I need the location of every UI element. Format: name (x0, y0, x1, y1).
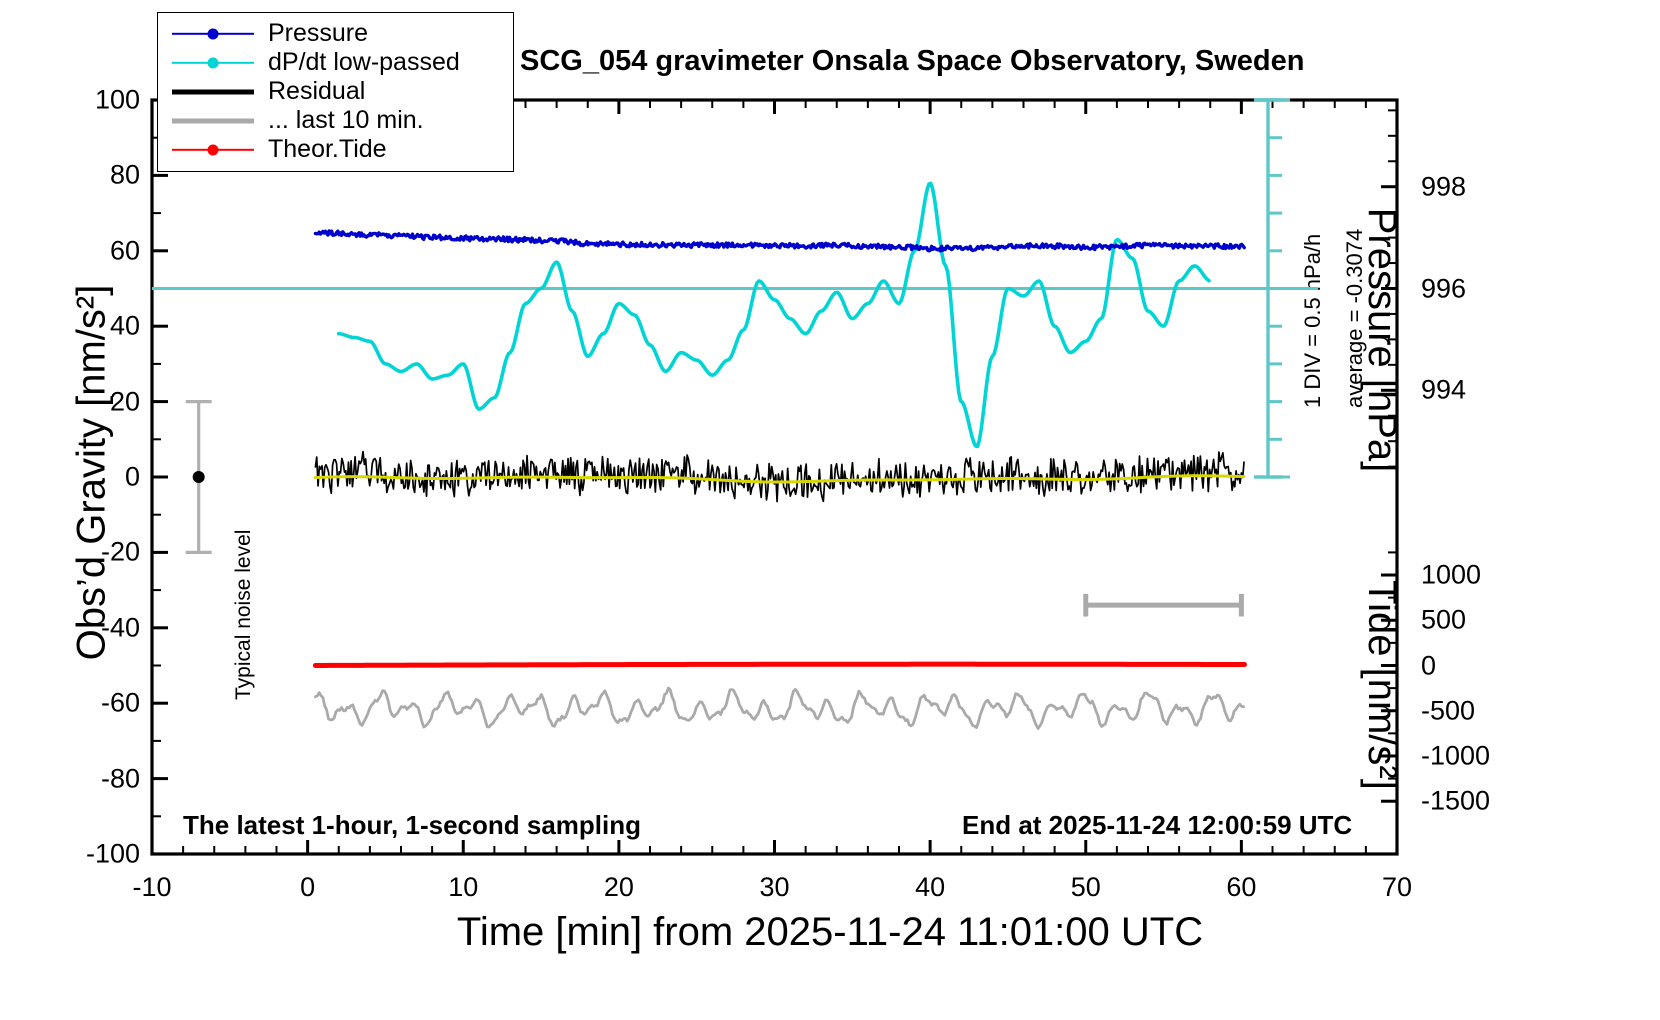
last-10-min-series (315, 688, 1243, 728)
legend-swatch-tide (172, 140, 254, 160)
legend-item[interactable]: ... last 10 min. (158, 106, 513, 135)
legend-swatch-pressure (172, 24, 254, 44)
legend-swatch-dpdt (172, 53, 254, 73)
tide-series (315, 664, 1244, 665)
legend-item[interactable]: Pressure (158, 19, 513, 48)
legend-label-tide: Theor.Tide (254, 135, 387, 164)
noise-center-dot (193, 471, 205, 483)
legend: Pressure dP/dt low-passed Residual ... l… (157, 12, 514, 172)
legend-swatch-residual (172, 82, 254, 102)
residual-series (315, 452, 1244, 502)
legend-label-last10: ... last 10 min. (254, 106, 424, 135)
legend-label-residual: Residual (254, 77, 365, 106)
dpdt-series (339, 183, 1209, 446)
legend-swatch-last10 (172, 111, 254, 131)
gravimeter-plot: Obs’d Gravity [nm/s²] Pressure [hPa] Tid… (0, 0, 1660, 1020)
pressure-series (315, 231, 1244, 251)
legend-item[interactable]: Theor.Tide (158, 135, 513, 164)
legend-item[interactable]: Residual (158, 77, 513, 106)
legend-label-pressure: Pressure (254, 19, 368, 48)
legend-item[interactable]: dP/dt low-passed (158, 48, 513, 77)
legend-label-dpdt: dP/dt low-passed (254, 48, 460, 77)
